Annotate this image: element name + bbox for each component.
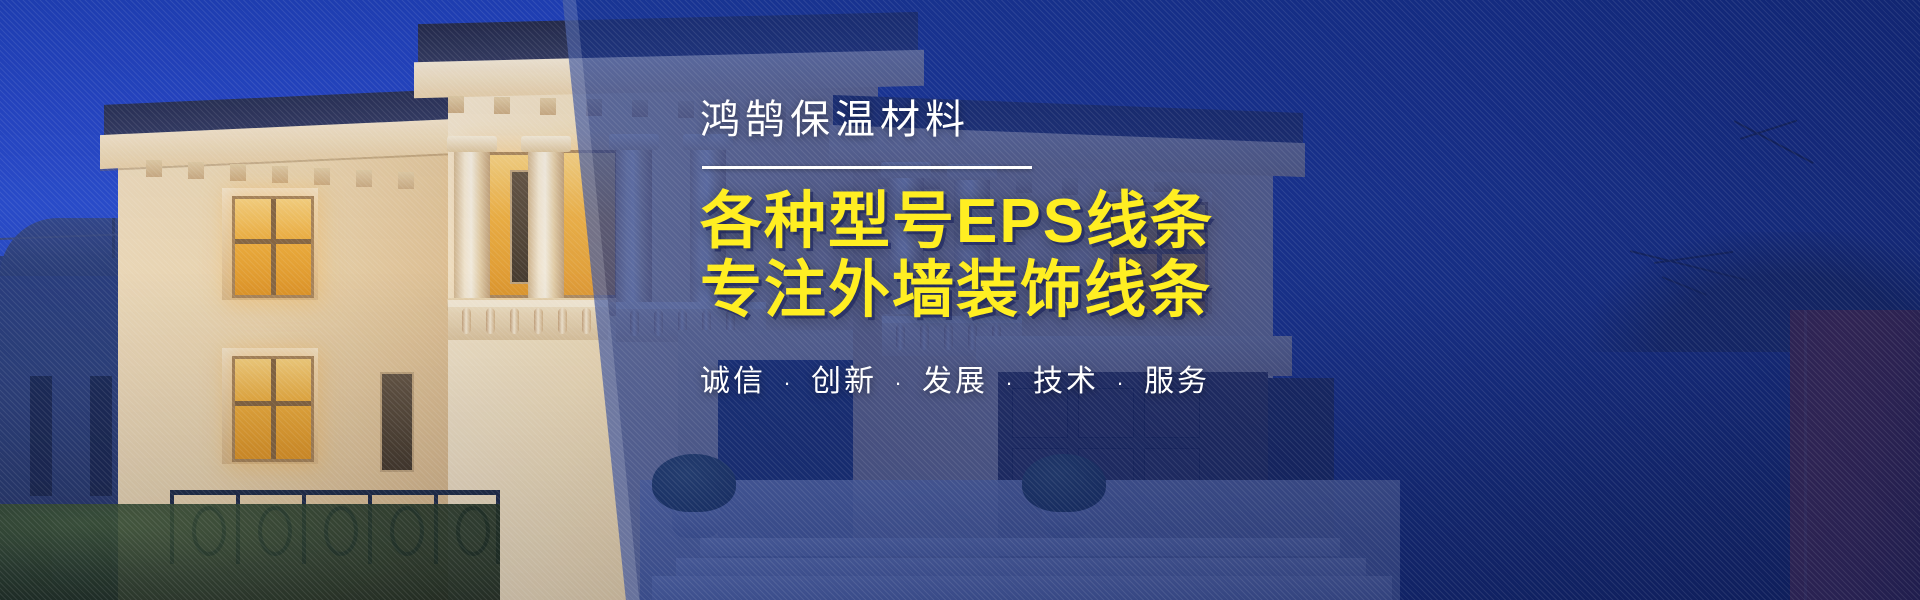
tagline-item-2: 发展 [922, 365, 988, 398]
tagline-separator: · [888, 370, 910, 395]
tagline: 诚信 · 创新 · 发展 · 技术 · 服务 [700, 356, 1460, 400]
promo-banner: 鸿鹄保温材料 各种型号EPS线条 专注外墙装饰线条 诚信 · 创新 · 发展 ·… [0, 0, 1920, 600]
tagline-item-4: 服务 [1144, 365, 1210, 398]
tagline-item-0: 诚信 [700, 365, 766, 398]
tagline-separator: · [777, 370, 799, 395]
tagline-item-1: 创新 [811, 365, 877, 398]
headline-line-2: 专注外墙装饰线条 [700, 256, 1460, 325]
divider-rule [702, 166, 1032, 169]
tagline-separator: · [999, 370, 1021, 395]
brand-name: 鸿鹄保温材料 [700, 96, 1460, 144]
tagline-item-3: 技术 [1033, 365, 1099, 398]
headline-line-1: 各种型号EPS线条 [700, 187, 1460, 256]
banner-text-block: 鸿鹄保温材料 各种型号EPS线条 专注外墙装饰线条 诚信 · 创新 · 发展 ·… [700, 96, 1460, 400]
tagline-separator: · [1110, 370, 1132, 395]
